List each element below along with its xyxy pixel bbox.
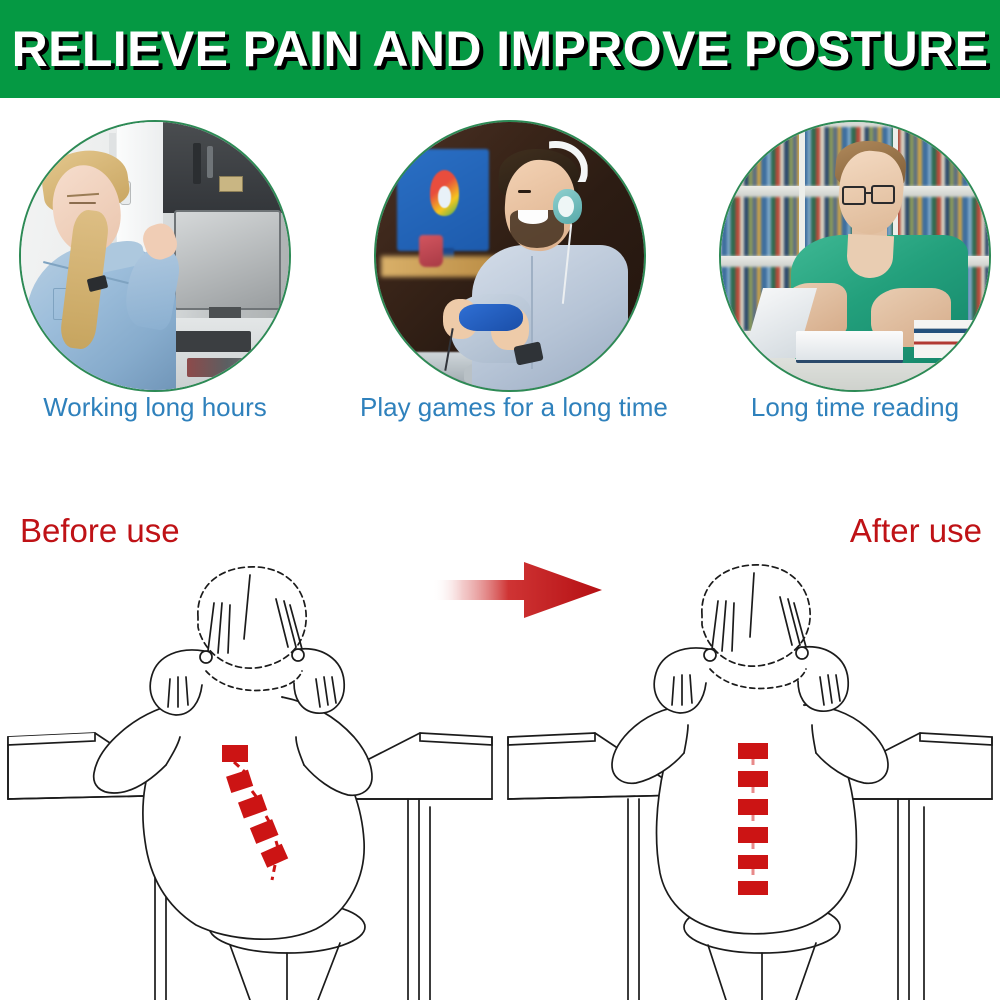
before-use-label: Before use xyxy=(20,512,180,550)
before-use-figure xyxy=(0,555,500,1000)
circle-photo-frame-2 xyxy=(374,120,646,392)
circle-photo-frame-3 xyxy=(719,120,991,392)
header-banner: RELIEVE PAIN AND IMPROVE POSTURE xyxy=(0,0,1000,98)
photo-woman-neck-back-pain-at-office-desk xyxy=(21,122,289,390)
before-after-comparison: Before use After use xyxy=(0,460,1000,1000)
use-case-caption-2: Play games for a long time xyxy=(360,392,660,423)
photo-man-playing-video-games-with-headphones xyxy=(376,122,644,390)
use-case-photo-row: Working long hours xyxy=(0,110,1000,410)
use-case-caption-1: Working long hours xyxy=(5,392,305,423)
use-case-card-long-time-reading: Long time reading xyxy=(705,110,1000,410)
page-title: RELIEVE PAIN AND IMPROVE POSTURE xyxy=(12,20,989,78)
use-case-caption-3: Long time reading xyxy=(705,392,1000,423)
after-use-figure xyxy=(500,555,1000,1000)
circle-photo-frame-1 xyxy=(19,120,291,392)
use-case-card-play-games: Play games for a long time xyxy=(360,110,660,410)
photo-man-reading-books-in-library xyxy=(721,122,989,390)
use-case-card-working-long-hours: Working long hours xyxy=(5,110,305,410)
after-use-label: After use xyxy=(850,512,982,550)
